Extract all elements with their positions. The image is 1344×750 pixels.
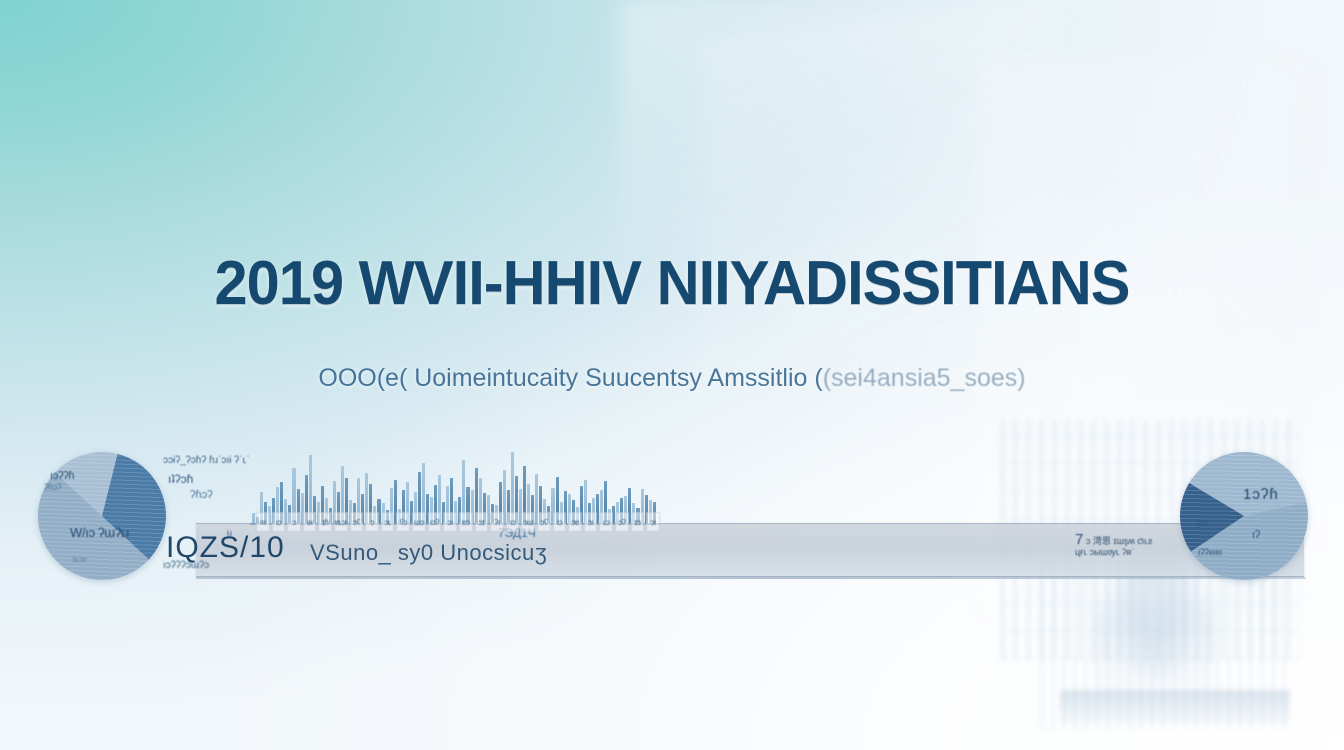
bar-chart-tick-label: ≡ı: [256, 512, 270, 532]
background-bookshelf-low: [1040, 560, 1290, 730]
bar-chart-tick-label: ʕɔ: [396, 512, 410, 532]
pie-right-label-c: ıʔ: [1252, 529, 1260, 541]
pie-right-label-d: ıʔʔıııııı: [1198, 547, 1222, 557]
bar-chart-tick-label: ɔɐ: [568, 512, 582, 532]
page-subtitle-main: OOO(e( Uoimeintucaity Suucentsy Amssitli…: [318, 364, 822, 392]
bar-chart-tick-label: ɐʟɔı: [334, 512, 348, 532]
pie-left-label-b: ʔɦɔʔ: [44, 482, 61, 492]
bar-chart-tick-label: ɔʕ: [350, 512, 364, 532]
bar-chart-tick-label: ɔʟ: [381, 512, 395, 532]
band-note-line1: ɔ 渮恩 ɪшşʍ ƈıʟƨ: [1086, 536, 1153, 546]
bar-chart-tick-label: ɯɔ: [412, 512, 426, 532]
bar-chart-tick-label: ıɔ: [506, 512, 520, 532]
callout-middle: ıʇʔɔɦ: [168, 472, 193, 486]
pie-left-label-a: ıɔʔʔɦ: [50, 470, 74, 482]
bar-chart-tick-label: ɔʔ: [615, 512, 629, 532]
bar-chart-tick-label: ɔı: [646, 512, 660, 532]
pie-left-label-d: ɔʟɔıı: [72, 555, 86, 564]
bar-chart-tick-label: ɪɦ: [318, 512, 332, 532]
bar-chart-tick-label: ɔʕ: [537, 512, 551, 532]
bar-chart-tick-label: ɔɯ: [521, 512, 535, 532]
bar-chart-tick-label: ıɔ: [272, 512, 286, 532]
pie-right-label-a: 1ɔʔɦ: [1243, 486, 1279, 503]
bar-chart-tick-label: ɔı: [443, 512, 457, 532]
background-desk: [1060, 690, 1290, 724]
page-subtitle-muted: (sei4ansia5_soes): [823, 364, 1026, 392]
bracket-glyph: 7: [1075, 531, 1083, 548]
bar-chart-tick-label: ɐɔ: [459, 512, 473, 532]
bar-chart-tick-label: ıɔ: [553, 512, 567, 532]
bar-chart-tick-labels: ≡ııɔɔǝıɪɦɐʟɔıɔʕɔɔʟʕɔɯɔıɔʔɔıɐɔɔɪʔııɔɔɯɔʕı…: [256, 511, 660, 533]
headline-figure-sublabel: ıɔʔʔʔɔɯʔɔ: [163, 560, 209, 571]
page-title: 2019 WVII-HHIV NIIYADISSITIANS: [27, 248, 1317, 319]
bar-chart-tick-label: ʟɔ: [599, 512, 613, 532]
callout-lower: ʔɦɔʔ: [190, 489, 213, 501]
callout-top: ɔɔɨʔ_ʔɔɦʔ ɦɹˈɔıɨ ʔˈʟˈ: [163, 455, 250, 466]
background-light-sweep: [620, 0, 1140, 250]
background-person: [1095, 560, 1215, 710]
bar-chart-tick-label: ıɔʔ: [428, 512, 442, 532]
bar-chart-tick-label: ǝı: [303, 512, 317, 532]
band-note-line2: цғʟ ɔышѹʟ ʔʀˈ: [1075, 547, 1134, 557]
bar-chart-tick-label: ɪɔ: [631, 512, 645, 532]
pie-left-label-c: W/ıɔ ʔɯʔʟı: [70, 525, 129, 540]
bar-chart-tick-label: ɔɪ: [475, 512, 489, 532]
bar-chart-tick-label: ɔı: [584, 512, 598, 532]
bar-chart-tick-label: ʔı: [490, 512, 504, 532]
pie-right-label-b: ɹʔıʔ: [1196, 519, 1208, 528]
bar-chart-tick-label: ɔ: [365, 512, 379, 532]
axis-band-baseline: [196, 577, 1306, 579]
band-note-right: 7 ɔ 渮恩 ɪшşʍ ƈıʟƨ цғʟ ɔышѹʟ ʔʀˈ: [1075, 534, 1152, 558]
bar-chart-tick-label: ɔ: [287, 512, 301, 532]
axis-label: VSuno_ sy0 Unocsicuʒ: [310, 540, 547, 566]
infographic-canvas: 2019 WVII-HHIV NIIYADISSITIANS OOO(e( Uo…: [0, 0, 1344, 750]
page-subtitle: OOO(e( Uoimeintucaity Suucentsy Amssitli…: [0, 364, 1344, 393]
